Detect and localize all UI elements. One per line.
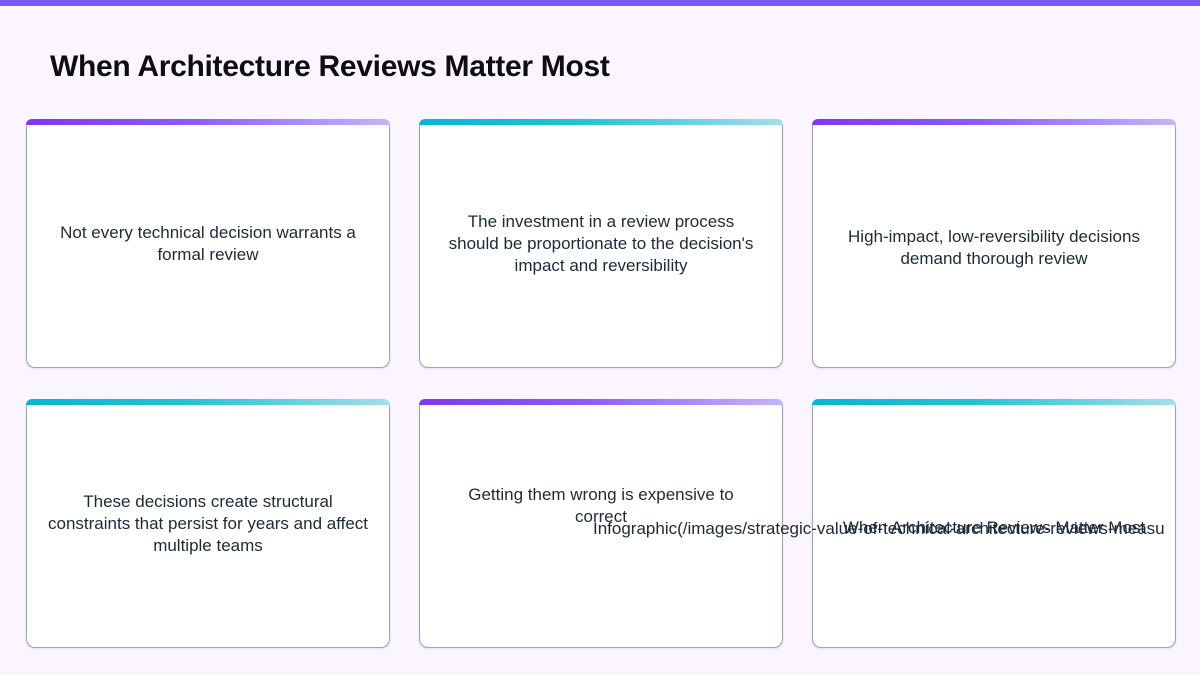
card-1[interactable]: Not every technical decision warrants a …: [26, 119, 390, 368]
card-3[interactable]: High-impact, low-reversibility decisions…: [812, 119, 1176, 368]
card-accent-bar: [26, 119, 390, 125]
card-text: High-impact, low-reversibility decisions…: [816, 226, 1172, 270]
card-4[interactable]: These decisions create structural constr…: [26, 399, 390, 648]
card-accent-bar: [419, 399, 783, 405]
card-2[interactable]: The investment in a review process shoul…: [419, 119, 783, 368]
card-text: Getting them wrong is expensive to corre…: [420, 484, 782, 528]
card-text: These decisions create structural constr…: [30, 491, 386, 557]
card-text: The investment in a review process shoul…: [423, 211, 779, 277]
card-accent-bar: [26, 399, 390, 405]
card-accent-bar: [419, 119, 783, 125]
card-accent-bar: [812, 399, 1176, 405]
top-accent-bar: [0, 0, 1200, 6]
card-grid: Not every technical decision warrants a …: [26, 119, 1200, 648]
card-text: When Architecture Reviews Matter Most: [825, 517, 1163, 539]
card-accent-bar: [812, 119, 1176, 125]
card-5[interactable]: Getting them wrong is expensive to corre…: [419, 399, 783, 648]
card-text: Not every technical decision warrants a …: [30, 222, 386, 266]
card-6[interactable]: When Architecture Reviews Matter Most: [812, 399, 1176, 648]
page-title: When Architecture Reviews Matter Most: [50, 50, 610, 84]
